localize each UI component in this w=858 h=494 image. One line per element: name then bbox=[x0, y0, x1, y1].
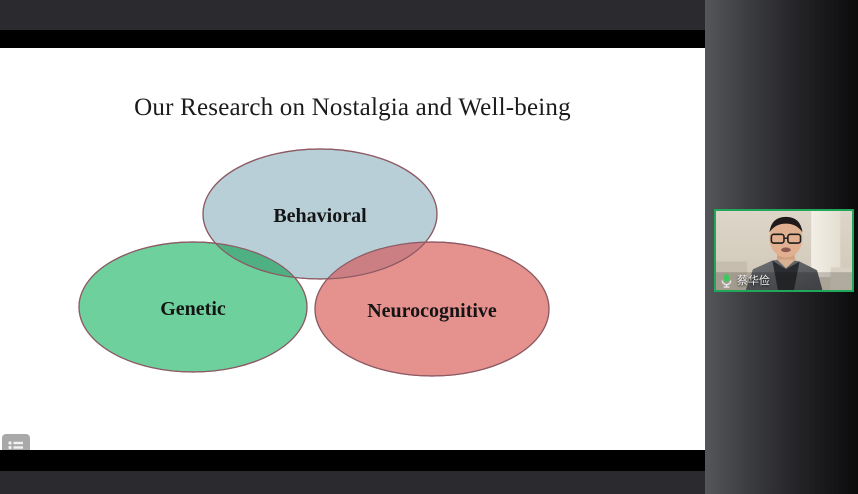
stage-bottom-strip bbox=[0, 471, 705, 494]
bulleted-list-icon bbox=[8, 441, 24, 451]
microphone-icon[interactable] bbox=[720, 273, 733, 288]
participant-sidebar[interactable]: 蔡华俭 bbox=[705, 0, 858, 494]
meeting-window: Our Research on Nostalgia and Well-being bbox=[0, 0, 858, 494]
screen-share-stage[interactable]: Our Research on Nostalgia and Well-being bbox=[0, 0, 705, 494]
venn-label-genetic: Genetic bbox=[160, 298, 226, 320]
letterbox-bar-top bbox=[0, 30, 705, 48]
letterbox-bar-bottom bbox=[0, 450, 705, 471]
slideshow-options-button[interactable] bbox=[2, 434, 30, 450]
participant-nameplate: 蔡华俭 bbox=[716, 270, 775, 290]
participant-video-tile[interactable]: 蔡华俭 bbox=[714, 209, 854, 292]
venn-diagram: Behavioral Genetic Neurocognitive bbox=[0, 48, 705, 450]
shared-slide[interactable]: Our Research on Nostalgia and Well-being bbox=[0, 48, 705, 450]
venn-label-neurocognitive: Neurocognitive bbox=[367, 300, 497, 322]
venn-label-behavioral: Behavioral bbox=[273, 205, 367, 227]
participant-name: 蔡华俭 bbox=[737, 275, 770, 286]
